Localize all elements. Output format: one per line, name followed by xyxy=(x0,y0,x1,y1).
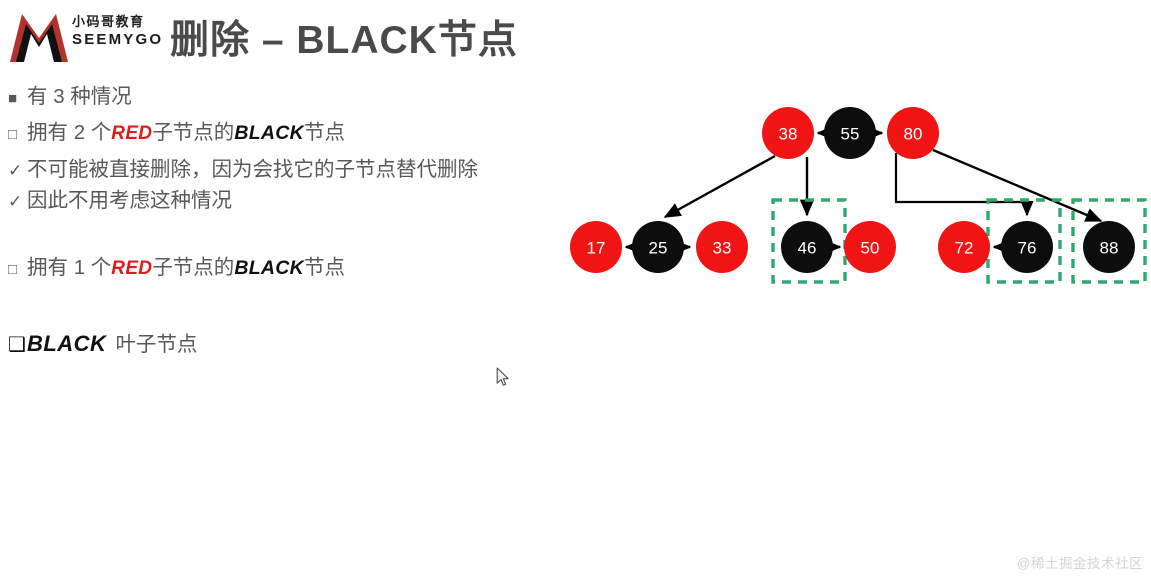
bullet-item-cannot-delete-directly: ✓ 不可能被直接删除，因为会找它的子节点替代删除 xyxy=(8,157,548,184)
node-label-88: 88 xyxy=(1100,239,1119,258)
bullet-item-no-need-consider: ✓ 因此不用考虑这种情况 xyxy=(8,188,548,215)
node-label-38: 38 xyxy=(779,125,798,144)
bullet-part-prefix: 拥有 1 个 xyxy=(27,255,111,281)
node-label-46: 46 xyxy=(798,239,817,258)
bullet-text-three-cases: 有 3 种情况 xyxy=(27,84,132,110)
keyword-black: BLACK xyxy=(234,255,304,281)
node-label-72: 72 xyxy=(955,239,974,258)
tree-node-88[interactable]: 88 xyxy=(1083,221,1135,273)
bullet-part-middle: 子节点的 xyxy=(152,255,234,281)
bullet-text-cannot-delete-directly: 不可能被直接删除，因为会找它的子节点替代删除 xyxy=(27,157,478,183)
page-title: 删除 – BLACK节点 xyxy=(170,9,518,65)
keyword-red: RED xyxy=(111,121,152,147)
bullet-part-suffix: 节点 xyxy=(304,255,345,281)
mouse-pointer-icon xyxy=(496,367,510,387)
tree-node-80[interactable]: 80 xyxy=(887,107,939,159)
brand-logo: 小码哥教育 SEEMYGO xyxy=(8,6,168,66)
tree-node-38[interactable]: 38 xyxy=(762,107,814,159)
tree-node-17[interactable]: 17 xyxy=(570,221,622,273)
seemygo-mountain-logo-icon xyxy=(8,8,70,64)
list-spacer xyxy=(8,283,548,327)
red-black-tree-diagram: 38 55 80 17 25 33 xyxy=(560,95,1151,295)
tree-node-25[interactable]: 25 xyxy=(632,221,684,273)
tree-node-72[interactable]: 72 xyxy=(938,221,990,273)
tree-svg-canvas: 38 55 80 17 25 33 xyxy=(560,95,1151,295)
bullet-text-no-need-consider: 因此不用考虑这种情况 xyxy=(27,188,232,214)
edge-80-to-88 xyxy=(933,150,1101,221)
brand-wordmark: 小码哥教育 SEEMYGO xyxy=(72,14,172,49)
bullet-list: ■ 有 3 种情况 □ 拥有 2 个 RED 子节点的 BLACK 节点 ✓ 不… xyxy=(8,84,548,357)
tree-node-76[interactable]: 76 xyxy=(1001,221,1053,273)
node-label-25: 25 xyxy=(649,239,668,258)
watermark: @稀土掘金技术社区 xyxy=(1017,552,1143,572)
hollow-square-bullet-icon: □ xyxy=(8,122,27,148)
tree-node-55[interactable]: 55 xyxy=(824,107,876,159)
list-spacer xyxy=(8,219,548,255)
keyword-black: BLACK xyxy=(234,120,304,146)
node-label-76: 76 xyxy=(1018,239,1037,258)
keyword-black: BLACK xyxy=(27,331,107,357)
bullet-part-middle: 子节点的 xyxy=(152,120,234,146)
hollow-square-bullet-icon: ❑ xyxy=(8,332,26,357)
brand-name-en: SEEMYGO xyxy=(72,30,172,49)
tree-node-50[interactable]: 50 xyxy=(844,221,896,273)
node-label-33: 33 xyxy=(713,239,732,258)
tree-node-33[interactable]: 33 xyxy=(696,221,748,273)
bullet-part-prefix: 拥有 2 个 xyxy=(27,120,111,146)
bullet-item-three-cases: ■ 有 3 种情况 xyxy=(8,84,548,112)
check-bullet-icon: ✓ xyxy=(8,158,27,184)
keyword-red: RED xyxy=(111,256,152,282)
node-label-55: 55 xyxy=(841,125,860,144)
bullet-text-black-leaf: 叶子节点 xyxy=(115,327,197,357)
filled-square-bullet-icon: ■ xyxy=(8,86,27,112)
bullet-part-suffix: 节点 xyxy=(304,120,345,146)
node-label-80: 80 xyxy=(904,125,923,144)
node-label-17: 17 xyxy=(587,239,606,258)
edge-38-to-25 xyxy=(665,156,775,217)
tree-edges xyxy=(665,150,1101,221)
slide-header: 小码哥教育 SEEMYGO 删除 – BLACK节点 xyxy=(0,0,1151,78)
tree-nodes: 38 55 80 17 25 33 xyxy=(570,107,1135,273)
bullet-item-black-leaf: ❑ BLACK 叶子节点 xyxy=(8,327,548,357)
hollow-square-bullet-icon: □ xyxy=(8,257,27,283)
tree-node-46[interactable]: 46 xyxy=(781,221,833,273)
check-bullet-icon: ✓ xyxy=(8,189,27,215)
bullet-item-two-red-children: □ 拥有 2 个 RED 子节点的 BLACK 节点 xyxy=(8,120,548,148)
brand-name-cn: 小码哥教育 xyxy=(72,14,172,30)
node-label-50: 50 xyxy=(861,239,880,258)
bullet-item-one-red-child: □ 拥有 1 个 RED 子节点的 BLACK 节点 xyxy=(8,255,548,283)
